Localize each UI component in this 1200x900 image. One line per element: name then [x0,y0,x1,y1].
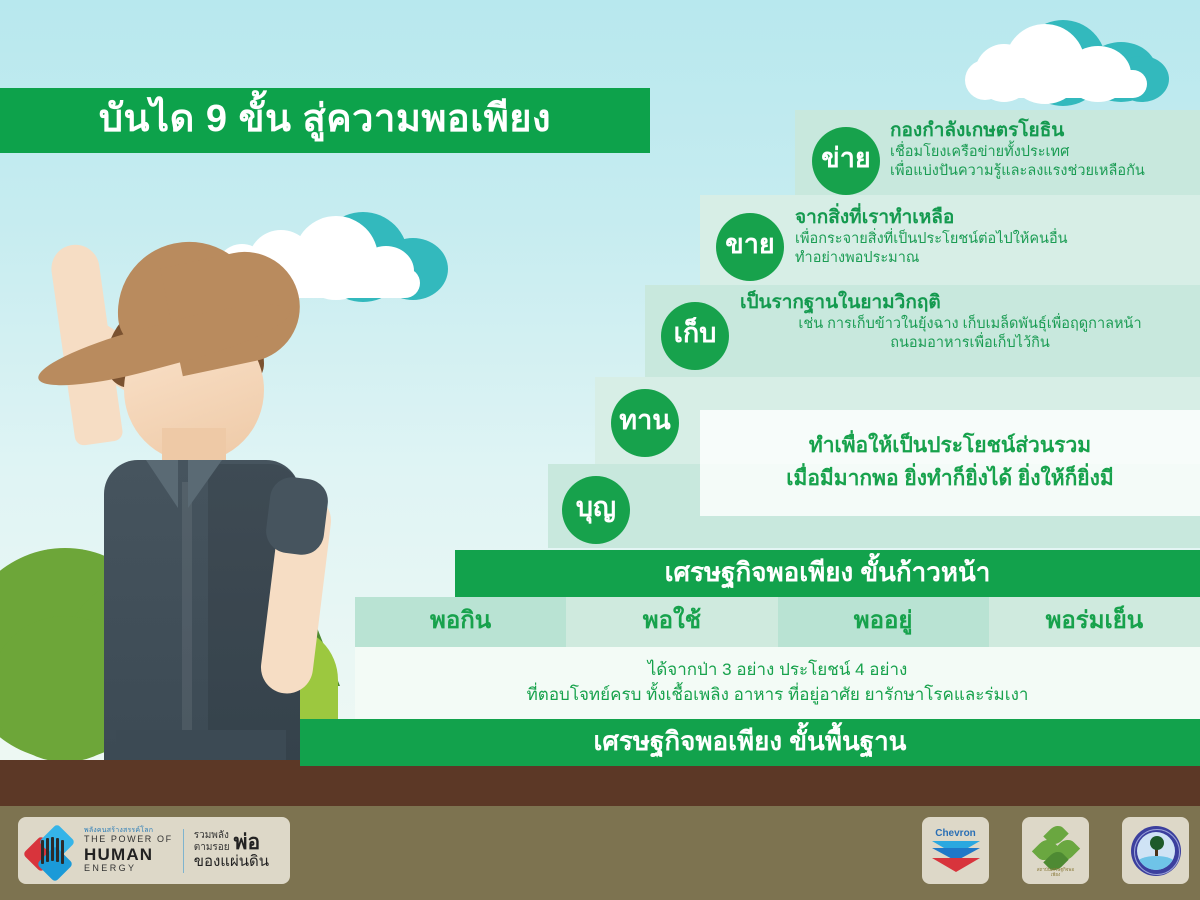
shirt-collar-right [188,460,222,508]
sufficiency-institute-logo-card: สถาบันเศรษฐกิจพอเพียง [1022,817,1089,884]
sufficiency-columns: พอกิน พอใช้ พออยู่ พอร่มเย็น [355,597,1200,647]
step-badge-khai[interactable]: ข่าย [812,127,880,195]
royal-seal-logo-card [1122,817,1189,884]
step-8-line-2: ทำอย่างพอประมาณ [795,249,1200,268]
human-energy-logo-card: พลังคนสร้างสรรค์โลก THE POWER OF HUMAN E… [18,817,290,884]
shirt-placket [182,482,192,762]
page-title: บันได 9 ขั้น สู่ความพอเพียง [0,88,650,153]
base-description-line-1: ได้จากป่า 3 อย่าง ประโยชน์ 4 อย่าง [648,658,908,683]
advanced-economy-label: เศรษฐกิจพอเพียง ขั้นก้าวหน้า [665,559,991,589]
foundation-economy-label: เศรษฐกิจพอเพียง ขั้นพื้นฐาน [594,728,907,758]
column-poromyen[interactable]: พอร่มเย็น [989,597,1200,647]
column-poromyen-label: พอร่มเย็น [1046,609,1144,636]
base-description-line-2: ที่ตอบโจทย์ครบ ทั้งเชื้อเพลิง อาหาร ที่อ… [527,683,1029,708]
chevron-icon: Chevron [930,828,982,874]
column-pokin[interactable]: พอกิน [355,597,566,647]
human-energy-thai-tagline: พลังคนสร้างสรรค์โลก [84,827,173,835]
step-9-text: กองกำลังเกษตรโยธิน เชื่อมโยงเครือข่ายทั้… [890,120,1200,181]
farmer-illustration [20,232,380,792]
column-poyu-label: พออยู่ [854,609,913,636]
column-poyu[interactable]: พออยู่ [778,597,989,647]
page-title-text: บันได 9 ขั้น สู่ความพอเพียง [99,100,551,142]
farmer-right-sleeve [264,475,331,558]
step-badge-5-label: บุญ [576,494,616,526]
step-9-line-1: เชื่อมโยงเครือข่ายทั้งประเทศ [890,143,1200,162]
step-8-line-1: เพื่อกระจายสิ่งที่เป็นประโยชน์ต่อไปให้คน… [795,230,1200,249]
step-7-line-2: ถนอมอาหารเพื่อเก็บไว้กิน [740,334,1200,353]
step-7-heading: เป็นรากฐานในยามวิกฤติ [740,292,1200,314]
leaf-icon: สถาบันเศรษฐกิจพอเพียง [1034,825,1078,877]
shared-line-1: ทำเพื่อให้เป็นประโยชน์ส่วนรวม [809,430,1091,463]
human-energy-line1: THE POWER OF [84,834,173,845]
step-8-heading: จากสิ่งที่เราทำเหลือ [795,207,1200,229]
shirt-collar-left [146,460,178,508]
column-pochai-label: พอใช้ [643,609,701,636]
human-energy-text: พลังคนสร้างสรรค์โลก THE POWER OF HUMAN E… [84,827,173,875]
step-9-heading: กองกำลังเกษตรโยธิน [890,120,1200,142]
step-7-line-1: เช่น การเก็บข้าวในยุ้งฉาง เก็บเมล็ดพันธุ… [740,315,1200,334]
step-badge-bun[interactable]: บุญ [562,476,630,544]
king-project-line3: ของแผ่นดิน [194,853,280,870]
step-badge-keb[interactable]: เก็บ [661,302,729,370]
step-badge-6-label: ทาน [619,407,670,439]
advanced-economy-bar: เศรษฐกิจพอเพียง ขั้นก้าวหน้า [455,550,1200,597]
king-project-line2: ตามรอย [194,842,230,854]
human-energy-icon [28,827,76,875]
step-badge-9-label: ข่าย [821,145,870,177]
footer-divider [183,829,184,873]
column-pochai[interactable]: พอใช้ [566,597,777,647]
king-project-text: รวมพลัง ตามรอย พ่อ ของแผ่นดิน [194,830,280,870]
step-badge-7-label: เก็บ [674,320,717,352]
step-8-text: จากสิ่งที่เราทำเหลือ เพื่อกระจายสิ่งที่เ… [795,207,1200,268]
leaf-caption: สถาบันเศรษฐกิจพอเพียง [1034,867,1078,878]
human-energy-line3: ENERGY [84,863,173,874]
king-project-line1: รวมพลัง [194,830,230,842]
column-pokin-label: พอกิน [430,609,491,636]
step-badge-8-label: ขาย [725,231,774,263]
seal-icon [1131,826,1181,876]
step-9-line-2: เพื่อแบ่งปันความรู้และลงแรงช่วยเหลือกัน [890,162,1200,181]
step-7-text: เป็นรากฐานในยามวิกฤติ เช่น การเก็บข้าวใน… [740,292,1200,353]
shared-line-2: เมื่อมีมากพอ ยิ่งทำก็ยิ่งได้ ยิ่งให้ก็ยิ… [786,463,1113,496]
step-badge-khai-sell[interactable]: ขาย [716,213,784,281]
human-energy-line2: HUMAN [84,846,173,864]
base-description: ได้จากป่า 3 อย่าง ประโยชน์ 4 อย่าง ที่ตอ… [355,647,1200,719]
foundation-economy-bar: เศรษฐกิจพอเพียง ขั้นพื้นฐาน [300,719,1200,766]
cloud-icon-top-right [965,18,1170,96]
step-badge-tan[interactable]: ทาน [611,389,679,457]
shared-text-panel: ทำเพื่อให้เป็นประโยชน์ส่วนรวม เมื่อมีมาก… [700,410,1200,516]
king-project-big: พ่อ [234,832,260,853]
chevron-wordmark: Chevron [930,828,982,839]
chevron-logo-card: Chevron [922,817,989,884]
infographic-stage: ทำเพื่อให้เป็นประโยชน์ส่วนรวม เมื่อมีมาก… [0,0,1200,900]
ground-soil [0,760,1200,806]
